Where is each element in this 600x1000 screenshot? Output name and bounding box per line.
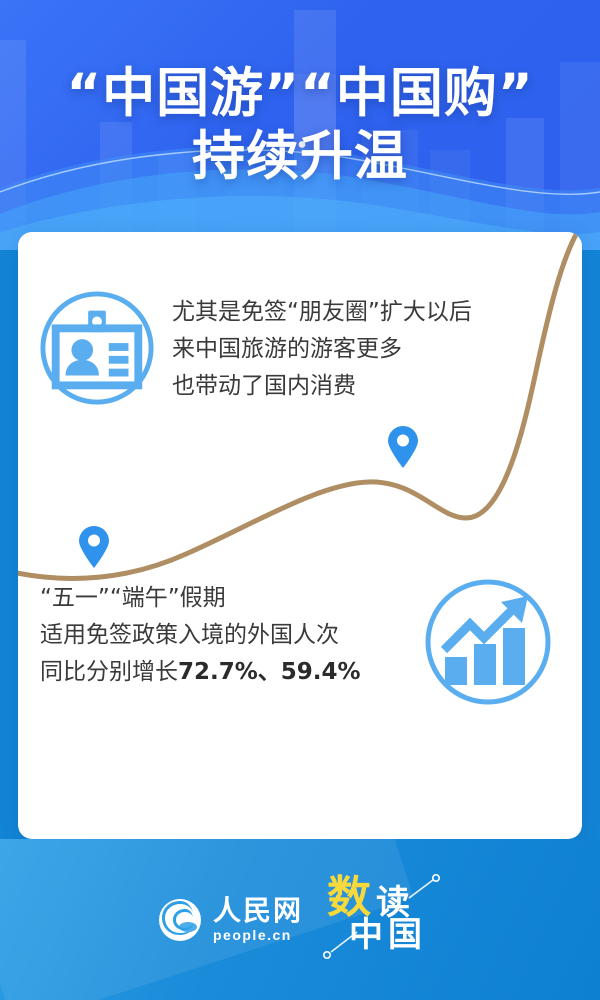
header-banner: “中国游”“中国购” 持续升温 (0, 0, 600, 250)
id-badge-icon (38, 289, 156, 407)
brand-name-en: people.cn (213, 927, 292, 944)
content-card: 尤其是免签“朋友圈”扩大以后 来中国旅游的游客更多 也带动了国内消费 “五一”“… (18, 232, 582, 839)
peoplecn-globe-icon (155, 895, 205, 945)
growth-chart-icon (422, 576, 554, 708)
title-line-1: “中国游”“中国购” (0, 63, 600, 125)
footer-branding: 人民网 people.cn 数 读 中 国 (0, 839, 600, 1000)
shudu-char-1: 数 (327, 876, 371, 920)
shudu-zhongguo-logo[interactable]: 数 读 中 国 (317, 874, 445, 966)
growth-value-1: 72.7% (178, 659, 258, 685)
holiday-growth-paragraph: “五一”“端午”假期 适用免签政策入境的外国人次 同比分别增长72.7%、59.… (40, 580, 440, 691)
map-pin-icon (77, 525, 111, 569)
growth-separator: 、 (258, 659, 281, 685)
page-title: “中国游”“中国购” 持续升温 (0, 63, 600, 189)
title-line-2: 持续升温 (0, 125, 600, 189)
infographic-poster: “中国游”“中国购” 持续升温 (0, 0, 600, 1000)
shudu-char-4: 国 (388, 918, 422, 952)
map-pin-icon (386, 425, 420, 469)
growth-value-2: 59.4% (281, 659, 361, 685)
brand-name-cn: 人民网 (213, 896, 303, 926)
people-cn-logo[interactable]: 人民网 people.cn (155, 895, 303, 945)
visa-free-paragraph: 尤其是免签“朋友圈”扩大以后 来中国旅游的游客更多 也带动了国内消费 (172, 294, 572, 405)
shudu-char-3: 中 (349, 918, 383, 952)
